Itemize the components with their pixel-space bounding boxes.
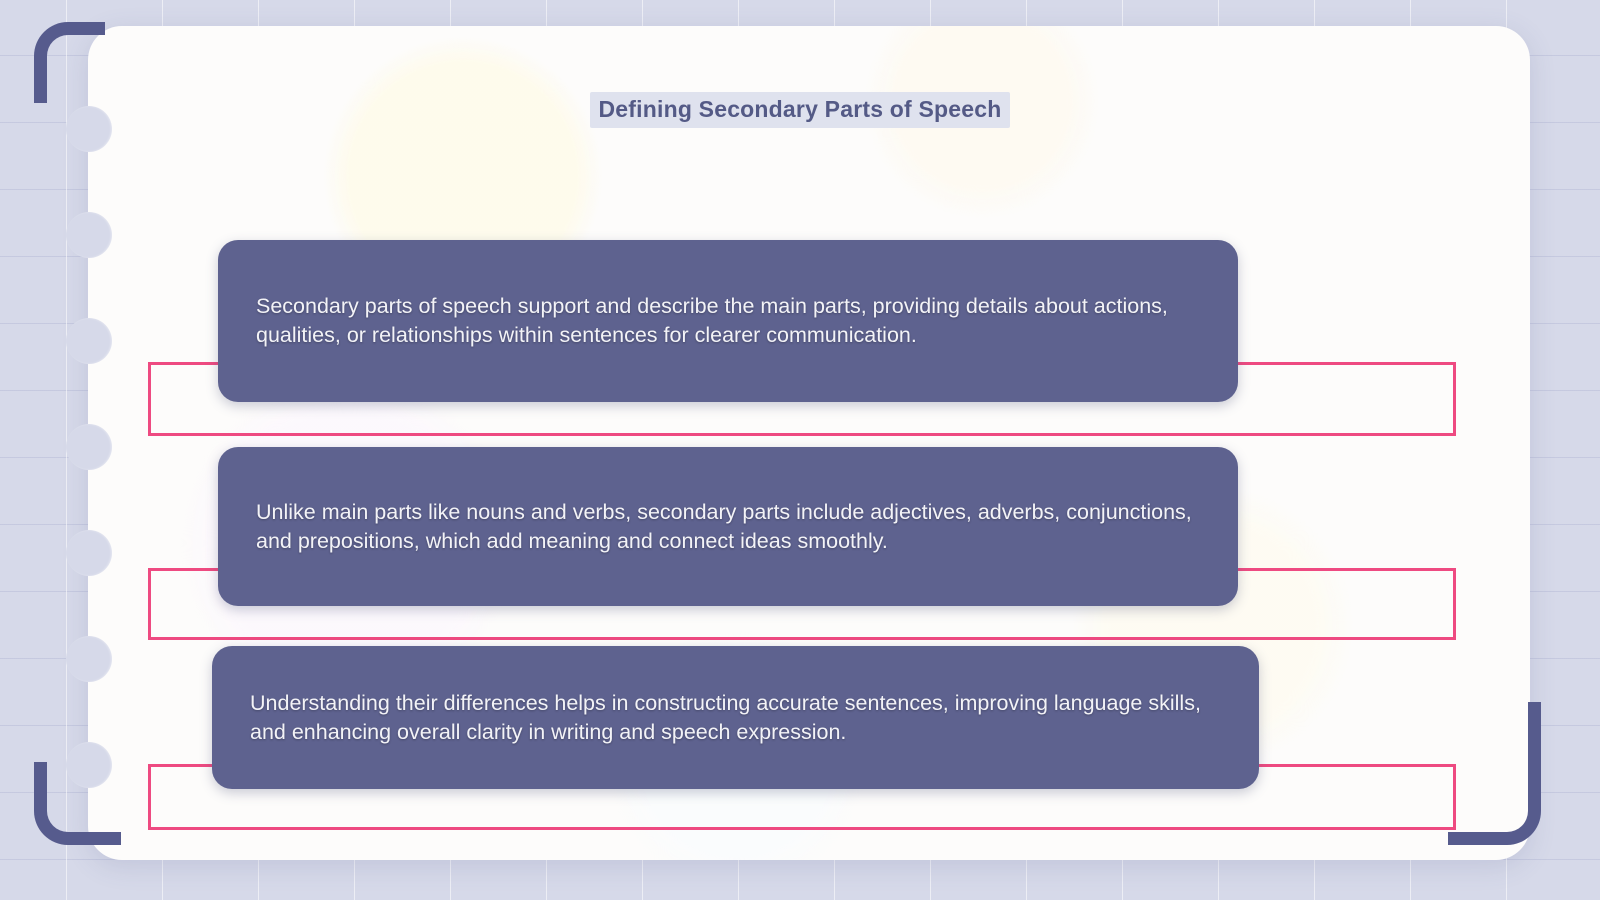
scallop-notch-4 [66, 424, 112, 470]
content-card-2-text: Unlike main parts like nouns and verbs, … [256, 498, 1204, 556]
scallop-notch-2 [66, 212, 112, 258]
corner-bracket-bottom-left-icon [34, 762, 121, 845]
page-title-text: Defining Secondary Parts of Speech [590, 92, 1009, 128]
content-card-2[interactable]: Unlike main parts like nouns and verbs, … [218, 447, 1238, 606]
scallop-notch-5 [66, 530, 112, 576]
content-card-3-text: Understanding their differences helps in… [250, 689, 1225, 747]
scallop-notch-3 [66, 318, 112, 364]
scallop-notch-6 [66, 636, 112, 682]
corner-bracket-bottom-right-icon [1448, 702, 1541, 845]
page-title: Defining Secondary Parts of Speech [0, 92, 1600, 128]
content-card-1[interactable]: Secondary parts of speech support and de… [218, 240, 1238, 402]
content-card-1-text: Secondary parts of speech support and de… [256, 292, 1204, 350]
content-card-3[interactable]: Understanding their differences helps in… [212, 646, 1259, 789]
corner-bracket-top-left-icon [34, 22, 105, 103]
